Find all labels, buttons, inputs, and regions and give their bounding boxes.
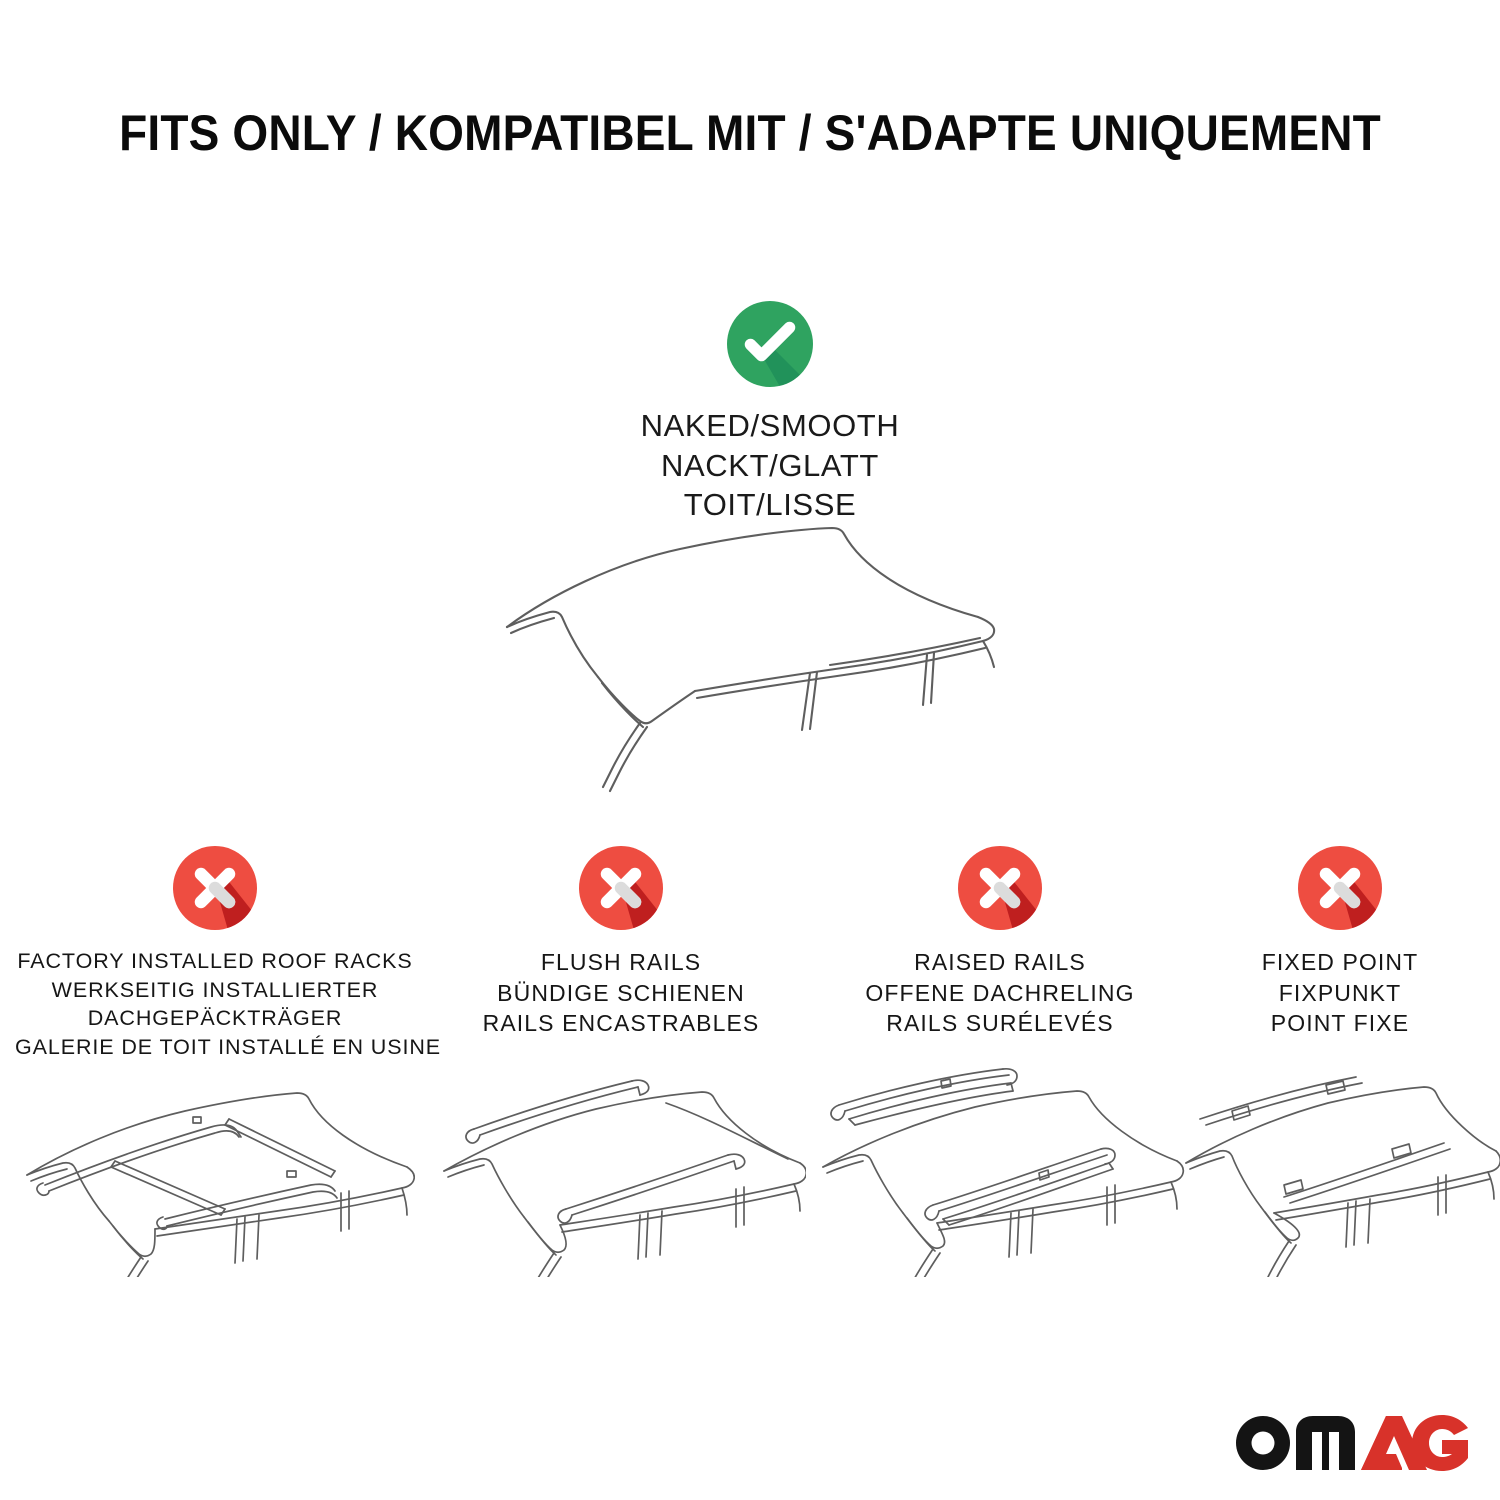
fitment-infographic: FITS ONLY / KOMPATIBEL MIT / S'ADAPTE UN… — [0, 0, 1500, 1500]
incompatible-caption: FIXED POINT FIXPUNKT POINT FIXE — [1190, 947, 1490, 1039]
caption-line-1: FACTORY INSTALLED ROOF RACKS — [15, 947, 415, 976]
incompatible-column-factory-rack: FACTORY INSTALLED ROOF RACKS WERKSEITIG … — [15, 845, 415, 1061]
x-circle-icon — [1297, 845, 1383, 931]
caption-line-1: FLUSH RAILS — [436, 947, 806, 978]
caption-line-1: RAISED RAILS — [815, 947, 1185, 978]
incompatible-caption: RAISED RAILS OFFENE DACHRELING RAILS SUR… — [815, 947, 1185, 1039]
x-circle-icon — [957, 845, 1043, 931]
caption-line-1: FIXED POINT — [1190, 947, 1490, 978]
car-roof-flush-rails-illustration — [436, 1067, 806, 1277]
compatible-section: NAKED/SMOOTH NACKT/GLATT TOIT/LISSE — [470, 300, 1070, 525]
logo-letter-m — [1296, 1416, 1355, 1470]
incompatible-column-fixed-point: FIXED POINT FIXPUNKT POINT FIXE — [1190, 845, 1490, 1039]
car-roof-factory-rack-illustration — [15, 1067, 415, 1277]
compatible-caption: NAKED/SMOOTH NACKT/GLATT TOIT/LISSE — [470, 406, 1070, 525]
caption-line-2: WERKSEITIG INSTALLIERTER — [15, 976, 415, 1005]
caption-line-2: FIXPUNKT — [1190, 978, 1490, 1009]
caption-line-2: BÜNDIGE SCHIENEN — [436, 978, 806, 1009]
x-circle-icon — [172, 845, 258, 931]
caption-line-3: POINT FIXE — [1190, 1008, 1490, 1039]
incompatible-caption: FLUSH RAILS BÜNDIGE SCHIENEN RAILS ENCAS… — [436, 947, 806, 1039]
incompatible-column-flush-rails: FLUSH RAILS BÜNDIGE SCHIENEN RAILS ENCAS… — [436, 845, 806, 1039]
caption-line-3: RAILS ENCASTRABLES — [436, 1008, 806, 1039]
caption-line-3: DACHGEPÄCKTRÄGER — [15, 1004, 415, 1033]
incompatible-caption: FACTORY INSTALLED ROOF RACKS WERKSEITIG … — [15, 947, 415, 1061]
caption-line-2: NACKT/GLATT — [470, 446, 1070, 486]
caption-line-1: NAKED/SMOOTH — [470, 406, 1070, 446]
logo-letter-o — [1236, 1416, 1290, 1470]
incompatible-sections: FACTORY INSTALLED ROOF RACKS WERKSEITIG … — [0, 845, 1500, 1325]
incompatible-column-raised-rails: RAISED RAILS OFFENE DACHRELING RAILS SUR… — [815, 845, 1185, 1039]
car-roof-naked-smooth-illustration — [480, 515, 1040, 805]
car-roof-raised-rails-illustration — [815, 1067, 1185, 1277]
check-circle-icon — [726, 300, 814, 388]
page-title: FITS ONLY / KOMPATIBEL MIT / S'ADAPTE UN… — [60, 104, 1440, 162]
omac-logo — [1230, 1410, 1470, 1472]
car-roof-fixed-point-illustration — [1180, 1067, 1500, 1277]
logo-letter-c — [1412, 1415, 1468, 1471]
caption-line-3: RAILS SURÉLEVÉS — [815, 1008, 1185, 1039]
caption-line-2: OFFENE DACHRELING — [815, 978, 1185, 1009]
x-circle-icon — [578, 845, 664, 931]
caption-line-4: GALERIE DE TOIT INSTALLÉ EN USINE — [15, 1033, 415, 1062]
